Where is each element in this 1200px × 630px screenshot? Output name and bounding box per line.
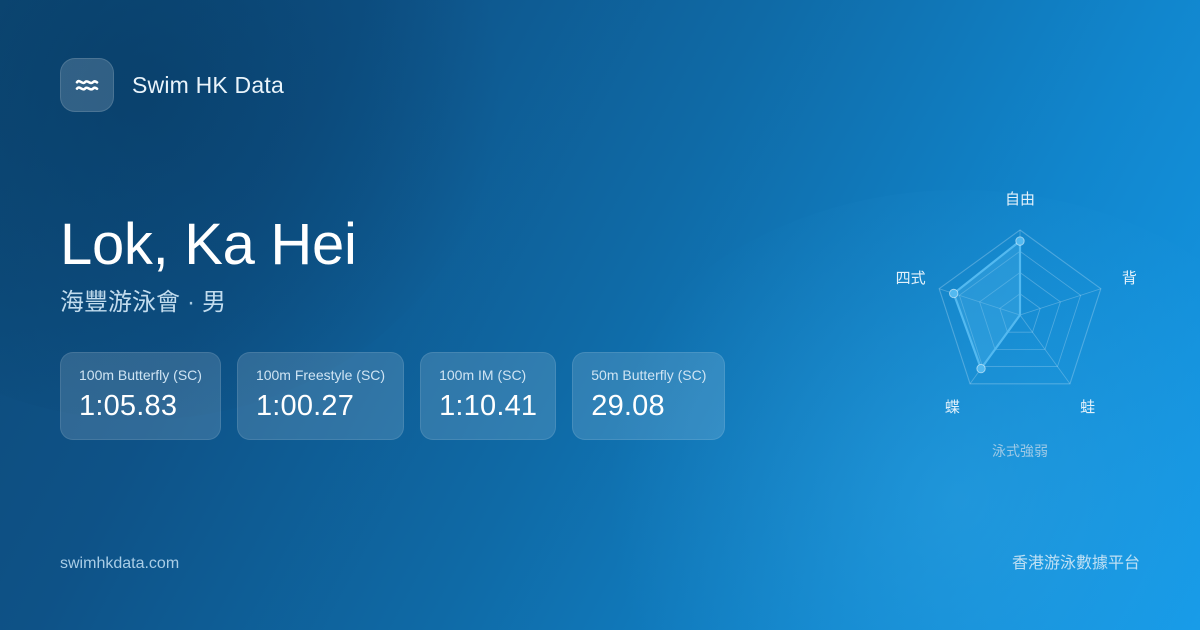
stat-card-event: 100m Freestyle (SC): [256, 366, 385, 384]
radar-data-point: [977, 364, 985, 372]
stat-card[interactable]: 100m Butterfly (SC)1:05.83: [60, 352, 221, 440]
footer-tagline: 香港游泳數據平台: [1012, 553, 1140, 575]
stat-card[interactable]: 50m Butterfly (SC)29.08: [572, 352, 725, 440]
brand-name: Swim HK Data: [132, 72, 284, 99]
brand-header: Swim HK Data: [60, 58, 284, 112]
athlete-hero: Lok, Ka Hei 海豐游泳會·男: [60, 212, 357, 318]
radar-data-point: [1016, 237, 1024, 245]
stat-card-time: 1:10.41: [439, 388, 537, 424]
radar-axis-label: 背: [1122, 269, 1137, 289]
og-card-root: Swim HK Data Lok, Ka Hei 海豐游泳會·男 100m Bu…: [0, 0, 1200, 630]
stat-card[interactable]: 100m Freestyle (SC)1:00.27: [237, 352, 404, 440]
stat-card-event: 100m IM (SC): [439, 366, 537, 384]
radar-axis-label: 蝶: [945, 398, 960, 418]
radar-axis-label: 蛙: [1080, 398, 1095, 418]
stat-card-time: 1:00.27: [256, 388, 385, 424]
stat-card-time: 29.08: [591, 388, 706, 424]
athlete-meta: 海豐游泳會·男: [60, 288, 357, 318]
athlete-gender: 男: [202, 289, 226, 316]
stat-card[interactable]: 100m IM (SC)1:10.41: [420, 352, 556, 440]
stat-card-event: 100m Butterfly (SC): [79, 366, 202, 384]
meta-separator: ·: [180, 289, 202, 316]
footer-site-url: swimhkdata.com: [60, 553, 179, 575]
radar-axis-label: 四式: [896, 269, 926, 289]
radar-axis-label: 自由: [1005, 190, 1035, 210]
stat-card-event: 50m Butterfly (SC): [591, 366, 706, 384]
stat-card-list: 100m Butterfly (SC)1:05.83100m Freestyle…: [60, 352, 725, 440]
stat-card-time: 1:05.83: [79, 388, 202, 424]
athlete-club: 海豐游泳會: [60, 289, 180, 316]
radar-chart-caption: 泳式強弱: [860, 441, 1180, 461]
radar-chart: 自由背蛙蝶四式: [860, 160, 1180, 480]
radar-axis-spoke: [1020, 289, 1101, 315]
radar-data-point: [950, 289, 958, 297]
page-title: Lok, Ka Hei: [60, 212, 357, 278]
wave-icon: [60, 58, 114, 112]
